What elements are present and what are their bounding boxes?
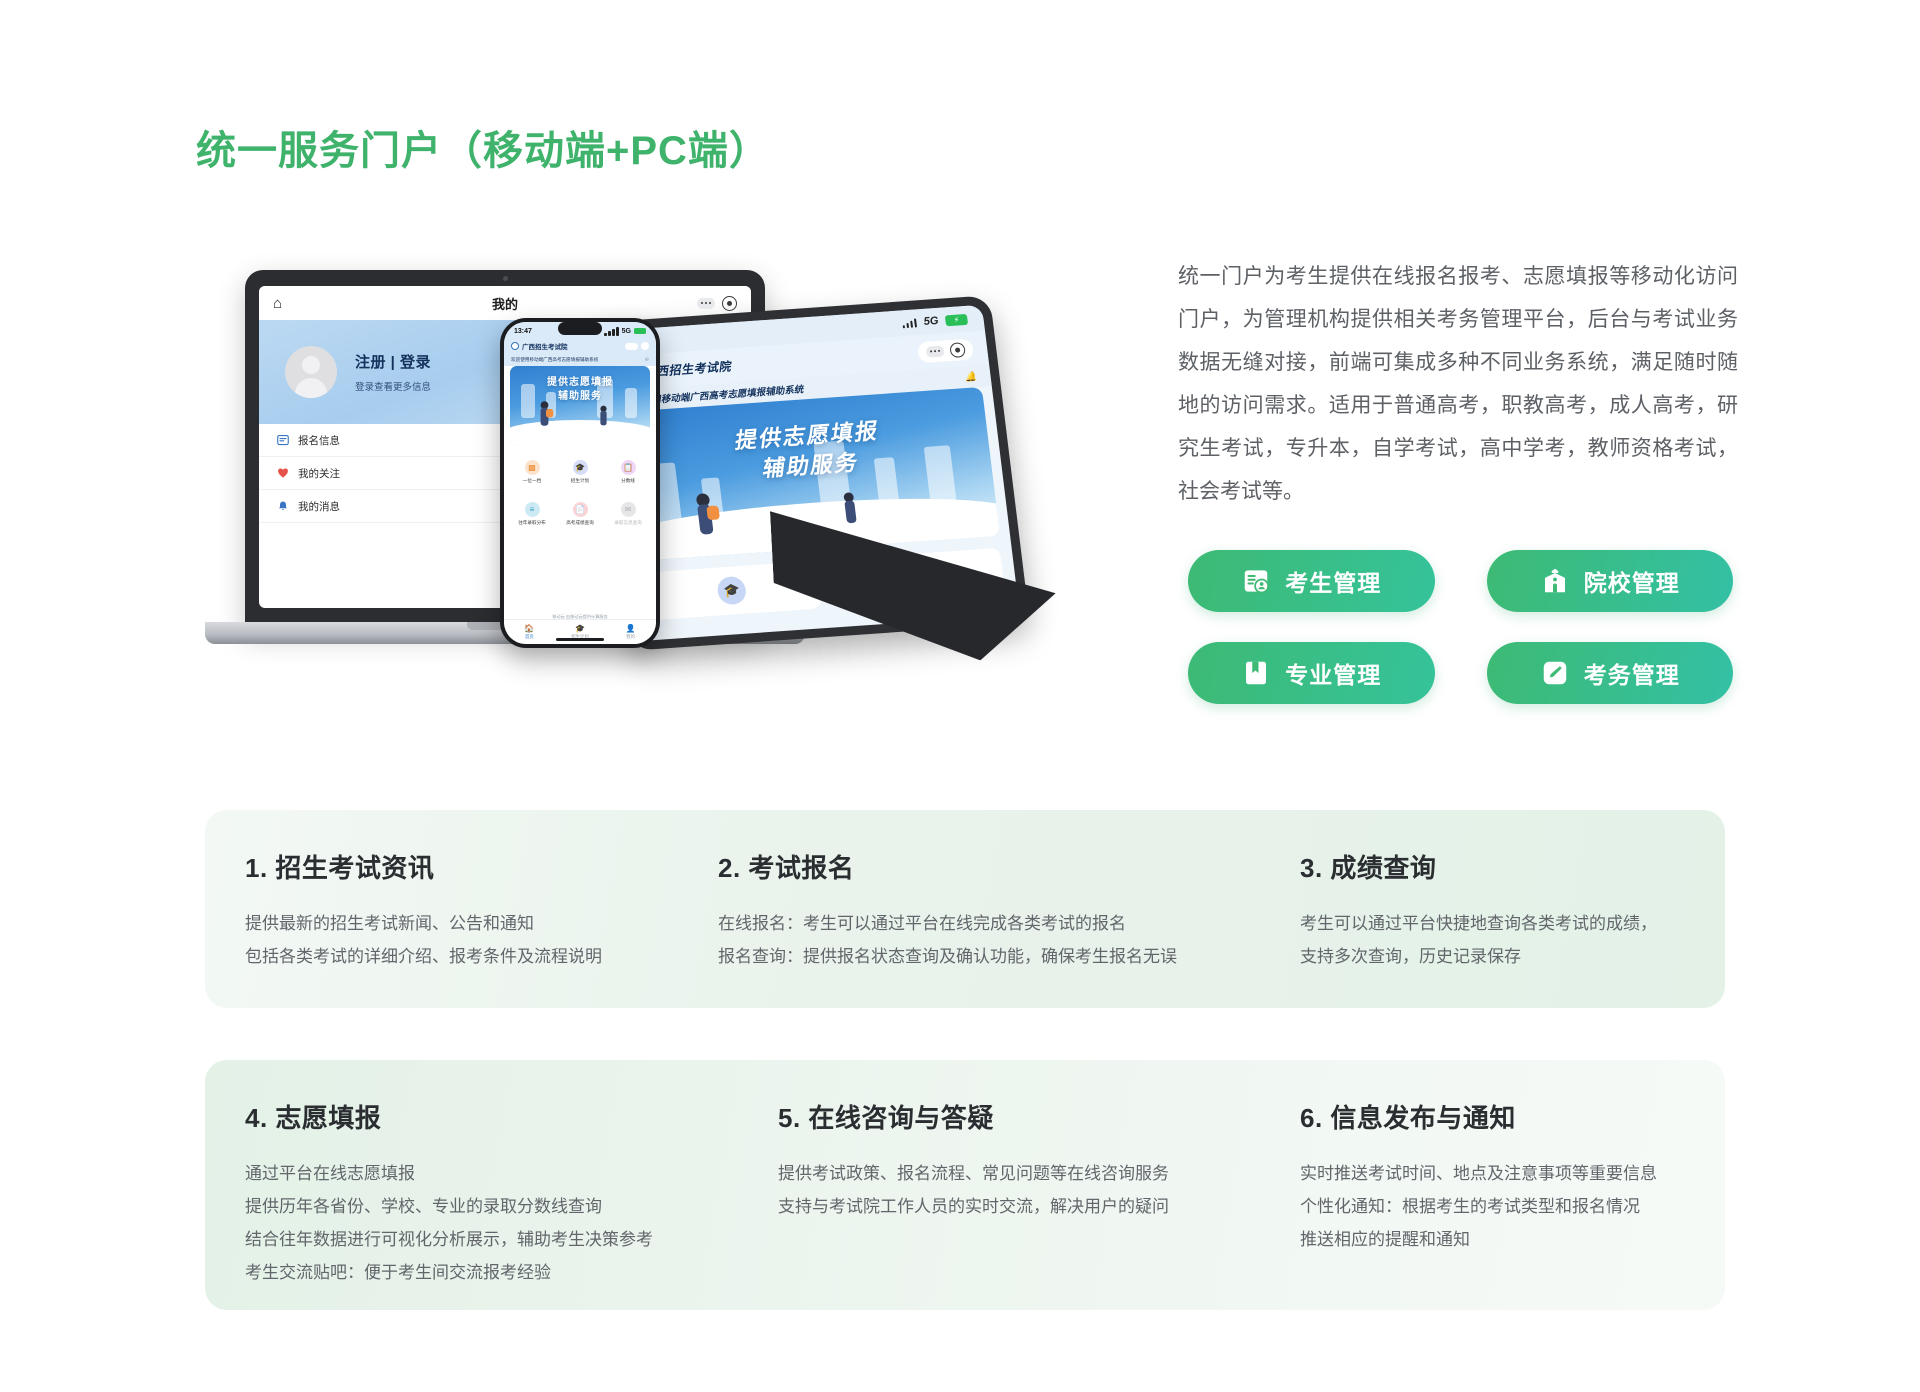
feature-card-5: 5. 在线咨询与答疑 提供考试政策、报名流程、常见问题等在线咨询服务 支持与考试…: [778, 1098, 1169, 1223]
phone-app-name: 广西招生考试院: [522, 341, 568, 351]
button-label: 考务管理: [1584, 656, 1680, 690]
candidate-management-button[interactable]: 考生管理: [1188, 550, 1435, 612]
feature-line: 提供最新的招生考试新闻、公告和通知: [245, 907, 602, 940]
pencil-edit-icon: [1540, 658, 1570, 688]
feature-line: 在线报名：考生可以通过平台在线完成各类考试的报名: [718, 907, 1177, 940]
feature-title: 6. 信息发布与通知: [1300, 1098, 1657, 1135]
phone-dynamic-island: [558, 322, 602, 335]
feature-title: 2. 考试报名: [718, 848, 1177, 885]
laptop-camera-icon: [503, 276, 508, 281]
feature-line: 个性化通知：根据考生的考试类型和报名情况: [1300, 1190, 1657, 1223]
grid-item-enrollment-plan[interactable]: 🎓 招生计划: [558, 453, 602, 491]
exam-affairs-management-button[interactable]: 考务管理: [1487, 642, 1734, 704]
phone-banner-text: 提供志愿填报 辅助服务: [510, 376, 650, 404]
phone-tab-label: 首页: [525, 634, 534, 639]
mini-program-capsule[interactable]: [625, 342, 649, 350]
graduation-cap-icon: 🎓: [573, 460, 588, 475]
avatar: [285, 346, 337, 398]
plan-tab-icon: 🎓: [555, 624, 606, 633]
portal-description: 统一门户为考生提供在线报名报考、志愿填报等移动化访问门户，为管理机构提供相关考务…: [1178, 255, 1738, 513]
banner-line-1: 提供志愿填报: [547, 377, 613, 388]
button-label: 考生管理: [1285, 564, 1381, 598]
laptop-topbar: ⌂ 我的: [259, 286, 751, 320]
grid-item-score-line[interactable]: 📋 分数线: [606, 453, 650, 491]
feature-card-4: 4. 志愿填报 通过平台在线志愿填报 提供历年各省份、学校、专业的录取分数线查询…: [245, 1098, 653, 1289]
feature-card-2: 2. 考试报名 在线报名：考生可以通过平台在线完成各类考试的报名 报名查询：提供…: [718, 848, 1177, 973]
student-illustration-1: [541, 401, 549, 426]
phone-app-header: 广西招生考试院: [504, 338, 656, 354]
home-tab-icon: 🏠: [504, 624, 555, 633]
banner-carousel-dots[interactable]: [510, 433, 650, 438]
feature-title: 3. 成绩查询: [1300, 848, 1660, 885]
grid-item-label: 录取信息查询: [614, 520, 642, 526]
more-dots-icon[interactable]: [925, 345, 944, 357]
feature-body: 提供最新的招生考试新闻、公告和通知 包括各类考试的详细介绍、报考条件及流程说明: [245, 907, 602, 973]
phone-welcome-text: 欢迎使用移动端广西高考志愿填报辅助系统: [511, 357, 598, 363]
bar-chart-icon: ▩: [525, 460, 540, 475]
target-icon[interactable]: [949, 342, 966, 358]
school-building-icon: [1540, 566, 1570, 596]
grid-item-label: 高考成绩查询: [566, 520, 594, 526]
feature-card-3: 3. 成绩查询 考生可以通过平台快捷地查询各类考试的成绩，支持多次查询，历史记录…: [1300, 848, 1660, 973]
grid-item-past-admission-distribution[interactable]: ≡ 往年录取分布: [510, 495, 554, 533]
phone-feature-grid: ▩ 一位一档 🎓 招生计划 📋 分数线 ≡ 往年录取分布: [504, 446, 656, 533]
signal-icon: [902, 318, 918, 328]
feature-line: 实时推送考试时间、地点及注意事项等重要信息: [1300, 1157, 1657, 1190]
feature-line: 提供考试政策、报名流程、常见问题等在线咨询服务: [778, 1157, 1169, 1190]
feature-title: 1. 招生考试资讯: [245, 848, 602, 885]
envelope-icon: ✉: [621, 502, 636, 517]
phone-banner[interactable]: 提供志愿填报 辅助服务: [510, 366, 650, 446]
menu-item-label: 报名信息: [298, 433, 340, 448]
feature-line: 考生交流贴吧：便于考生间交流报考经验: [245, 1256, 653, 1289]
feature-line: 提供历年各省份、学校、专业的录取分数线查询: [245, 1190, 653, 1223]
management-button-group: 考生管理 院校管理 专业管理 考务管理: [1188, 550, 1733, 704]
phone-clock: 13:47: [514, 328, 532, 335]
phone-body: 13:47 5G 广西招生考试院 欢迎使用移动: [500, 318, 660, 648]
feature-line: 支持与考试院工作人员的实时交流，解决用户的疑问: [778, 1190, 1169, 1223]
banner-line-2: 辅助服务: [558, 391, 602, 402]
profile-tab-icon: 👤: [605, 624, 656, 633]
page-title: 统一服务门户（移动端+PC端）: [196, 118, 770, 176]
phone-screen: 13:47 5G 广西招生考试院 欢迎使用移动: [504, 322, 656, 644]
grid-item-label: 往年录取分布: [518, 520, 546, 526]
bell-icon[interactable]: ☉: [645, 357, 649, 363]
menu-item-label: 我的消息: [298, 499, 340, 514]
feature-body: 考生可以通过平台快捷地查询各类考试的成绩，支持多次查询，历史记录保存: [1300, 907, 1660, 973]
feature-line: 推送相应的提醒和通知: [1300, 1223, 1657, 1256]
mini-program-capsule[interactable]: [917, 338, 975, 363]
candidate-card-icon: [1241, 566, 1271, 596]
major-management-button[interactable]: 专业管理: [1188, 642, 1435, 704]
grid-item-label: 分数线: [621, 478, 635, 484]
more-dots-icon[interactable]: [697, 298, 715, 309]
book-icon: [1241, 658, 1271, 688]
bell-icon[interactable]: 🔔: [964, 371, 977, 383]
phone-network-label: 5G: [622, 328, 631, 335]
feature-line: 结合往年数据进行可视化分析展示，辅助考生决策参考: [245, 1223, 653, 1256]
phone-mockup: 13:47 5G 广西招生考试院 欢迎使用移动: [500, 318, 660, 648]
institution-management-button[interactable]: 院校管理: [1487, 550, 1734, 612]
phone-home-indicator: [556, 638, 604, 641]
feature-line: 通过平台在线志愿填报: [245, 1157, 653, 1190]
laptop-page-title: 我的: [259, 294, 751, 313]
banner-line-2: 辅助服务: [760, 449, 859, 481]
login-register-link[interactable]: 注册 | 登录: [355, 351, 431, 372]
tablet-network-label: 5G: [923, 315, 939, 328]
feature-body: 实时推送考试时间、地点及注意事项等重要信息 个性化通知：根据考生的考试类型和报名…: [1300, 1157, 1657, 1256]
feature-body: 提供考试政策、报名流程、常见问题等在线咨询服务 支持与考试院工作人员的实时交流，…: [778, 1157, 1169, 1223]
graduation-cap-icon: 🎓: [716, 576, 747, 606]
heart-icon: [277, 467, 289, 479]
feature-line: 报名查询：提供报名状态查询及确认功能，确保考生报名无误: [718, 940, 1177, 973]
student-illustration-2: [600, 406, 606, 426]
grid-item-admission-info-query[interactable]: ✉ 录取信息查询: [606, 495, 650, 533]
target-icon[interactable]: [722, 296, 737, 311]
feature-card-6: 6. 信息发布与通知 实时推送考试时间、地点及注意事项等重要信息 个性化通知：根…: [1300, 1098, 1657, 1256]
feature-body: 在线报名：考生可以通过平台在线完成各类考试的报名 报名查询：提供报名状态查询及确…: [718, 907, 1177, 973]
phone-tab-profile[interactable]: 👤 我的: [605, 624, 656, 640]
phone-tab-home[interactable]: 🏠 首页: [504, 624, 555, 640]
phone-welcome-bar: 欢迎使用移动端广西高考志愿填报辅助系统 ☉: [504, 354, 656, 366]
phone-tab-label: 我的: [626, 634, 635, 639]
grid-item-gaokao-score-query[interactable]: 📄 高考成绩查询: [558, 495, 602, 533]
target-icon[interactable]: [641, 342, 649, 350]
grid-item-one-position-one-file[interactable]: ▩ 一位一档: [510, 453, 554, 491]
feature-card-1: 1. 招生考试资讯 提供最新的招生考试新闻、公告和通知 包括各类考试的详细介绍、…: [245, 848, 602, 973]
feature-line: 考生可以通过平台快捷地查询各类考试的成绩，支持多次查询，历史记录保存: [1300, 907, 1660, 973]
button-label: 专业管理: [1285, 656, 1381, 690]
menu-item-label: 我的关注: [298, 466, 340, 481]
feature-title: 4. 志愿填报: [245, 1098, 653, 1135]
exam-bureau-logo-icon: [511, 342, 519, 350]
clipboard-icon: 📋: [621, 460, 636, 475]
feature-body: 通过平台在线志愿填报 提供历年各省份、学校、专业的录取分数线查询 结合往年数据进…: [245, 1157, 653, 1289]
mini-program-capsule[interactable]: [697, 296, 737, 311]
more-dots-icon[interactable]: [625, 343, 638, 350]
battery-icon: [634, 328, 646, 334]
signal-icon: [604, 327, 619, 336]
filter-icon: ≡: [525, 502, 540, 517]
form-icon: [277, 434, 289, 446]
grid-item-label: 招生计划: [571, 478, 589, 484]
battery-charging-icon: ⚡: [945, 313, 968, 325]
device-mockup-group: ⌂ 我的 注册 | 登录 登录查看更多信息: [170, 240, 1220, 720]
feature-title: 5. 在线咨询与答疑: [778, 1098, 1169, 1135]
login-subtitle: 登录查看更多信息: [355, 379, 431, 393]
banner-line-1: 提供志愿填报: [732, 418, 879, 453]
bell-icon: [277, 500, 289, 512]
feature-line: 包括各类考试的详细介绍、报考条件及流程说明: [245, 940, 602, 973]
button-label: 院校管理: [1584, 564, 1680, 598]
score-card-icon: 📄: [573, 502, 588, 517]
grid-item-label: 一位一档: [523, 478, 541, 484]
